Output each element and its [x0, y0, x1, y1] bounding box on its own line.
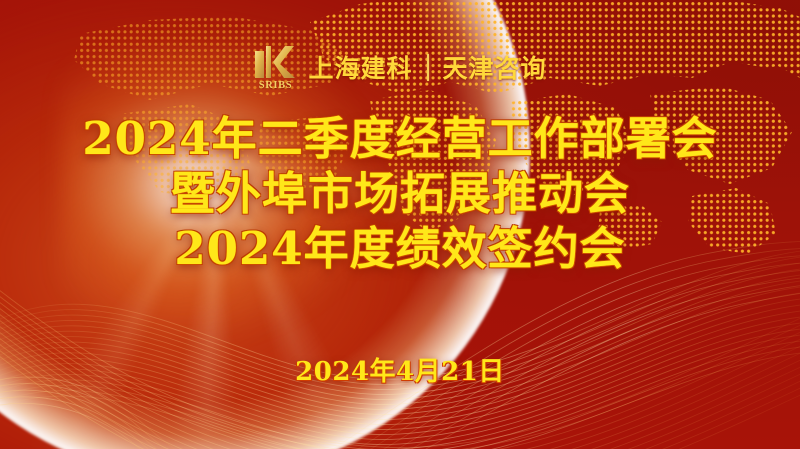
banner-content: SRIBS 上海建科 天津咨询 2024年二季度经营工作部署会 暨外埠市场拓展推…	[0, 0, 800, 449]
conference-banner: SRIBS 上海建科 天津咨询 2024年二季度经营工作部署会 暨外埠市场拓展推…	[0, 0, 800, 449]
brand-lockup: SRIBS 上海建科 天津咨询	[0, 44, 800, 90]
brand-divider	[427, 54, 429, 81]
title-block: 2024年二季度经营工作部署会 暨外埠市场拓展推动会 2024年度绩效签约会	[0, 112, 800, 277]
company-name: 上海建科	[308, 49, 412, 85]
sribs-building-logo-icon: SRIBS	[253, 44, 297, 90]
brand-text: 上海建科 天津咨询	[308, 49, 546, 85]
logo-caption: SRIBS	[253, 80, 297, 91]
unit-name: 天津咨询	[443, 49, 547, 85]
event-date: 2024年4月21日	[0, 351, 800, 388]
title-line-3: 2024年度绩效签约会	[0, 222, 800, 277]
title-line-2: 暨外埠市场拓展推动会	[0, 167, 800, 222]
title-line-1: 2024年二季度经营工作部署会	[0, 112, 800, 167]
